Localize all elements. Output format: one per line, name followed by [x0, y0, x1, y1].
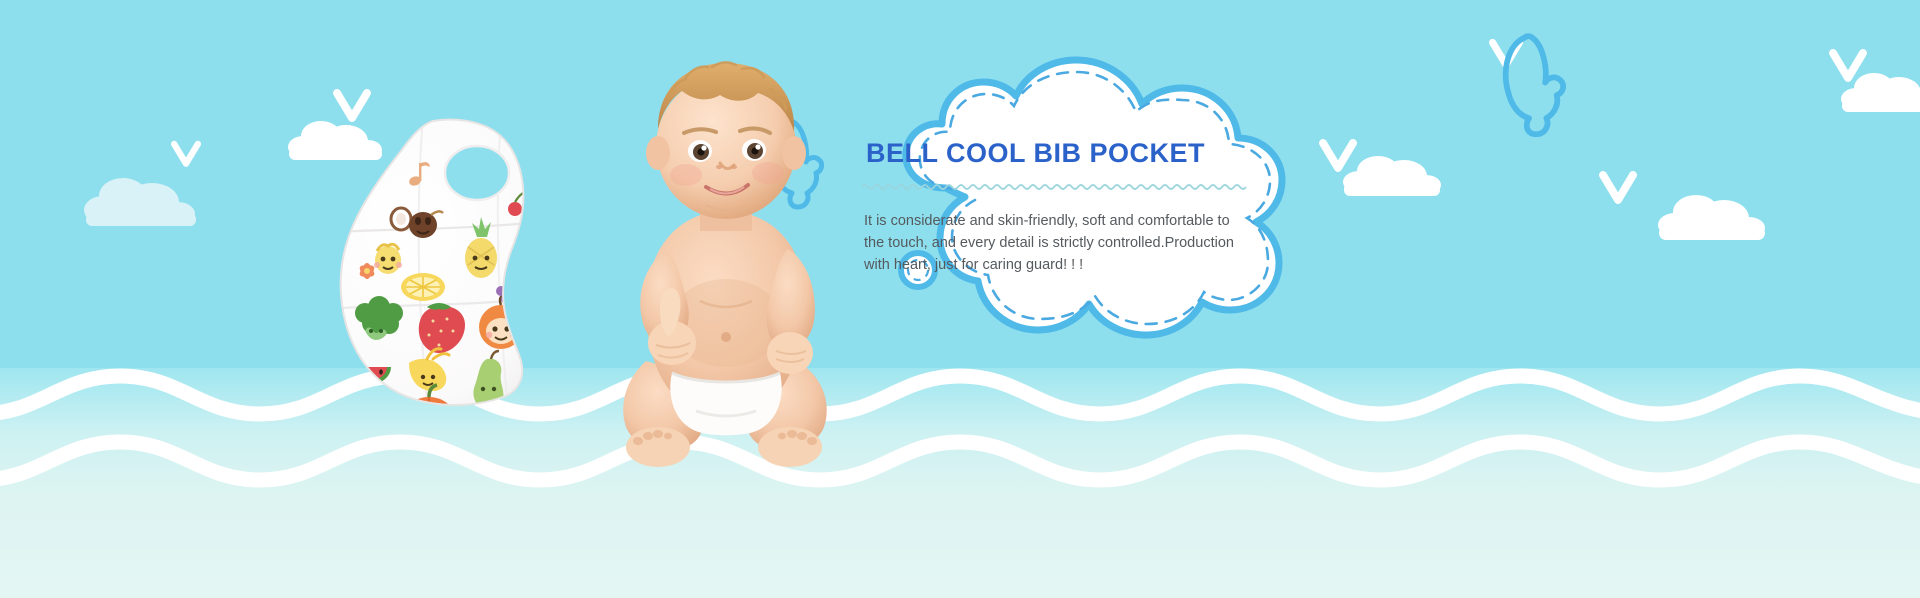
chevron-2-icon: [170, 140, 202, 170]
product-bib-image: [305, 115, 570, 440]
wave-line-upper: [0, 360, 1920, 440]
outline-cloud-right-icon: [1490, 28, 1582, 144]
print-lemon-slice: [401, 273, 445, 301]
wavy-divider-icon: [862, 183, 1250, 191]
speech-content: BELL COOL BIB POCKET It is considerate a…: [860, 138, 1260, 276]
chevron-6-icon: [1598, 170, 1638, 208]
print-carrot: [483, 409, 495, 440]
cloud-soft-left-icon: [78, 172, 204, 230]
chevron-5-icon: [1828, 48, 1868, 86]
page-title: BELL COOL BIB POCKET: [866, 138, 1260, 169]
hero-banner: BELL COOL BIB POCKET It is considerate a…: [0, 0, 1920, 598]
cloud-white-4-icon: [1652, 192, 1772, 244]
product-description: It is considerate and skin-friendly, sof…: [864, 210, 1248, 276]
speech-cloud-bubble: BELL COOL BIB POCKET It is considerate a…: [800, 38, 1330, 348]
